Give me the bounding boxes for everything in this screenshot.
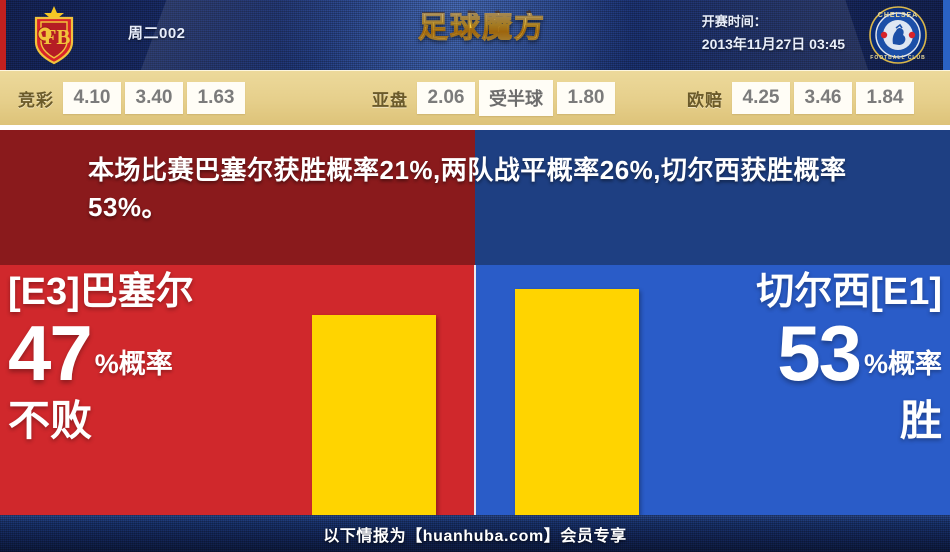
home-team-block: [E3]巴塞尔 47 %概率 不败 [8, 265, 298, 442]
odds-value-jingcai-away[interactable]: 1.63 [187, 82, 245, 114]
odds-group-jingcai: 竞彩 4.10 3.40 1.63 [18, 71, 249, 125]
odds-value-european-home[interactable]: 4.25 [732, 82, 790, 114]
odds-bar: 竞彩 4.10 3.40 1.63 亚盘 2.06 受半球 1.80 欧赔 4.… [0, 70, 950, 125]
kickoff-block: 开赛时间： 2013年11月27日 03:45 [702, 11, 845, 54]
probability-banner: 本场比赛巴塞尔获胜概率21%,两队战平概率26%,切尔西获胜概率53%。 [0, 130, 950, 265]
match-number: 周二002 [128, 22, 186, 43]
away-percent-row: 53 %概率 [652, 317, 942, 390]
odds-label-asian: 亚盘 [372, 86, 408, 111]
svg-text:FOOTBALL CLUB: FOOTBALL CLUB [870, 55, 925, 61]
odds-value-asian-home[interactable]: 2.06 [417, 82, 475, 114]
site-logo: 足球魔方 [418, 13, 546, 43]
home-team-name: [E3]巴塞尔 [8, 273, 298, 311]
kickoff-label: 开赛时间： [702, 11, 845, 30]
header-right-edge [943, 0, 950, 70]
odds-label-jingcai: 竞彩 [18, 86, 54, 111]
odds-value-jingcai-home[interactable]: 4.10 [63, 82, 121, 114]
away-percent-value: 53 [777, 317, 860, 390]
home-probability-bar [312, 315, 436, 515]
odds-label-european: 欧赔 [687, 86, 723, 111]
home-percent-value: 47 [8, 317, 91, 390]
footer-text: 以下情报为【huanhuba.com】会员专享 [323, 522, 627, 546]
home-verdict: 不败 [8, 400, 298, 442]
odds-group-asian: 亚盘 2.06 受半球 1.80 [372, 71, 619, 125]
odds-value-asian-away[interactable]: 1.80 [557, 82, 615, 114]
odds-group-european: 欧赔 4.25 3.46 1.84 [687, 71, 918, 125]
footer-bar: 以下情报为【huanhuba.com】会员专享 [0, 515, 950, 552]
header-left-edge [0, 0, 6, 70]
match-header: FB 周二002 足球魔方 开赛时间： 2013年11月27日 03:45 CH… [0, 0, 950, 70]
svg-text:FB: FB [44, 25, 71, 49]
away-verdict: 胜 [652, 400, 942, 442]
probability-summary: 本场比赛巴塞尔获胜概率21%,两队战平概率26%,切尔西获胜概率53%。 [88, 152, 878, 226]
away-percent-unit: %概率 [864, 351, 942, 390]
home-percent-unit: %概率 [95, 351, 173, 390]
basel-crest-icon: FB [22, 4, 86, 66]
svg-text:CHELSEA: CHELSEA [878, 12, 918, 19]
away-team-name: 切尔西[E1] [652, 273, 942, 311]
odds-value-european-away[interactable]: 1.84 [856, 82, 914, 114]
probability-chart: [E3]巴塞尔 47 %概率 不败 切尔西[E1] 53 %概率 胜 [0, 265, 950, 515]
chelsea-crest-icon: CHELSEA FOOTBALL CLUB [866, 4, 930, 66]
away-team-block: 切尔西[E1] 53 %概率 胜 [652, 265, 942, 442]
match-probability-graphic: FB 周二002 足球魔方 开赛时间： 2013年11月27日 03:45 CH… [0, 0, 950, 552]
panel-divider [474, 265, 476, 515]
odds-value-jingcai-draw[interactable]: 3.40 [125, 82, 183, 114]
odds-value-european-draw[interactable]: 3.46 [794, 82, 852, 114]
home-percent-row: 47 %概率 [8, 317, 298, 390]
odds-value-asian-handicap[interactable]: 受半球 [479, 80, 553, 116]
away-probability-bar [515, 289, 639, 515]
kickoff-value: 2013年11月27日 03:45 [702, 34, 845, 54]
